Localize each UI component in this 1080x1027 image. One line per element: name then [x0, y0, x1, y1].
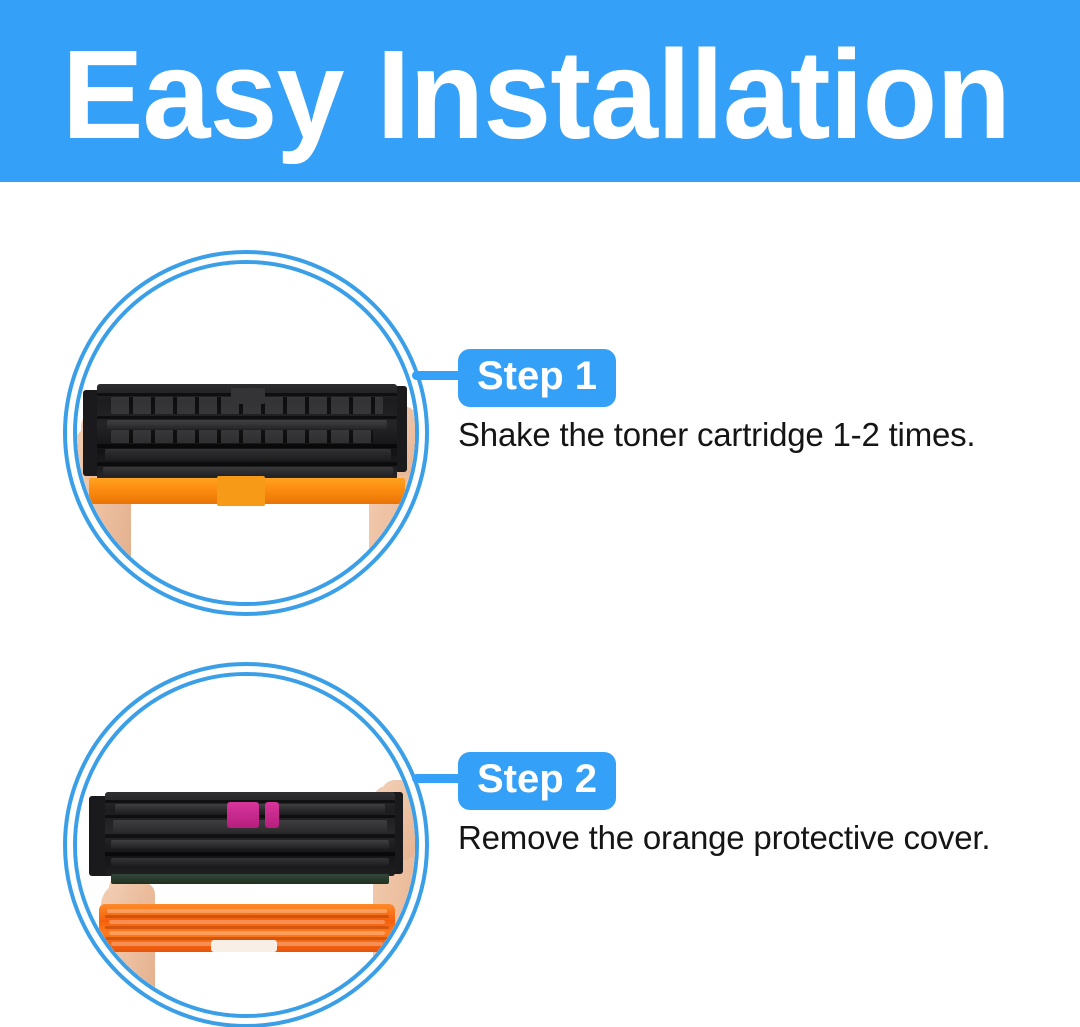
installation-instructions-page: Easy Installation	[0, 0, 1080, 1027]
step-2-photo	[77, 676, 415, 1014]
black-toner-cartridge	[105, 792, 395, 876]
step-2-illustration	[77, 676, 415, 1014]
magenta-roller-2	[265, 802, 279, 828]
step-2-description: Remove the orange protective cover.	[458, 818, 990, 858]
magenta-roller	[227, 802, 259, 828]
step-2-badge: Step 2	[458, 752, 616, 810]
orange-protective-cover	[99, 904, 395, 952]
step-2-photo-circle	[63, 662, 429, 1027]
step-2-block: Step 2 Remove the orange protective cove…	[0, 0, 1080, 1027]
cover-pull-tab	[211, 940, 277, 952]
photoconductive-drum	[111, 874, 389, 884]
